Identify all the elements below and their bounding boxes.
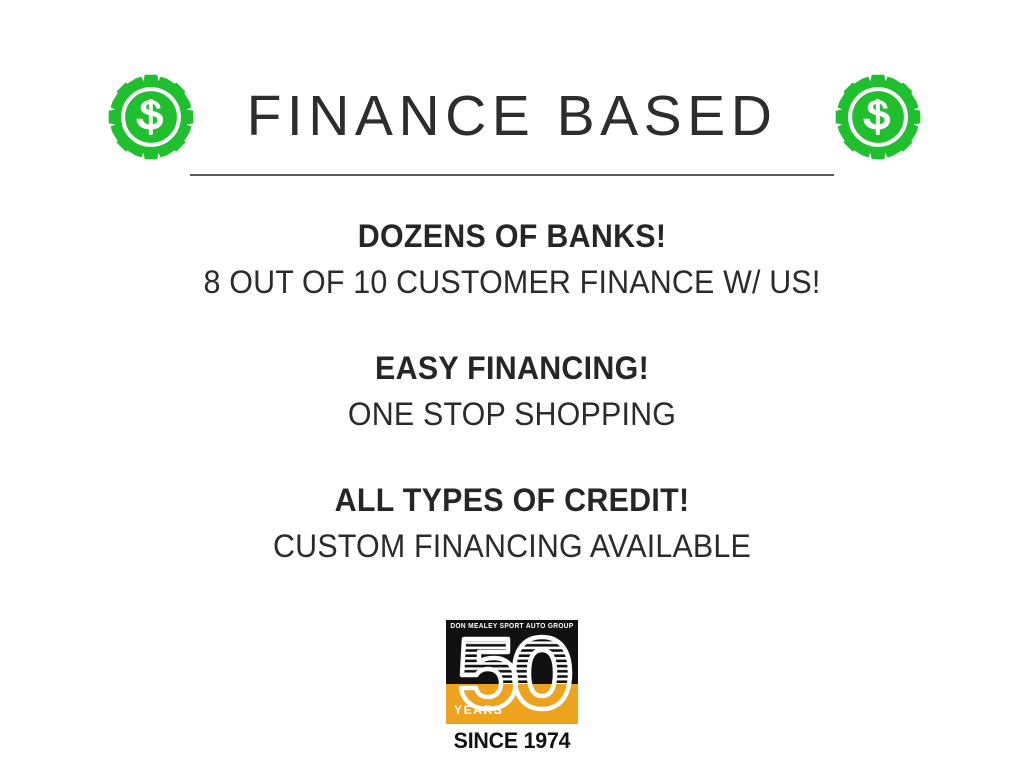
gear-dollar-icon	[106, 72, 196, 162]
block-subline: CUSTOM FINANCING AVAILABLE	[26, 522, 999, 570]
gear-dollar-icon	[833, 72, 923, 162]
block-headline: EASY FINANCING!	[26, 346, 999, 390]
block-headline: DOZENS OF BANKS!	[26, 214, 999, 258]
block-subline: 8 OUT OF 10 CUSTOMER FINANCE W/ US!	[26, 258, 999, 306]
text-block: EASY FINANCING! ONE STOP SHOPPING	[0, 346, 1024, 438]
logo-mark: DON MEALEY SPORT AUTO GROUP	[446, 620, 578, 724]
logo-brand-text: DON MEALEY SPORT AUTO GROUP	[450, 623, 574, 630]
block-headline: ALL TYPES OF CREDIT!	[26, 478, 999, 522]
dealer-logo: DON MEALEY SPORT AUTO GROUP	[446, 620, 578, 754]
text-block: DOZENS OF BANKS! 8 OUT OF 10 CUSTOMER FI…	[0, 214, 1024, 306]
title-divider	[190, 174, 834, 176]
page-title: FINANCE BASED	[190, 68, 834, 164]
slide-canvas: FINANCE BASED	[0, 0, 1024, 768]
logo-years-label: YEARS	[454, 703, 503, 717]
logo-since-text: SINCE 1974	[448, 728, 576, 754]
text-block: ALL TYPES OF CREDIT! CUSTOM FINANCING AV…	[0, 478, 1024, 570]
header: FINANCE BASED	[0, 72, 1024, 182]
block-subline: ONE STOP SHOPPING	[26, 390, 999, 438]
body-content: DOZENS OF BANKS! 8 OUT OF 10 CUSTOMER FI…	[0, 214, 1024, 570]
